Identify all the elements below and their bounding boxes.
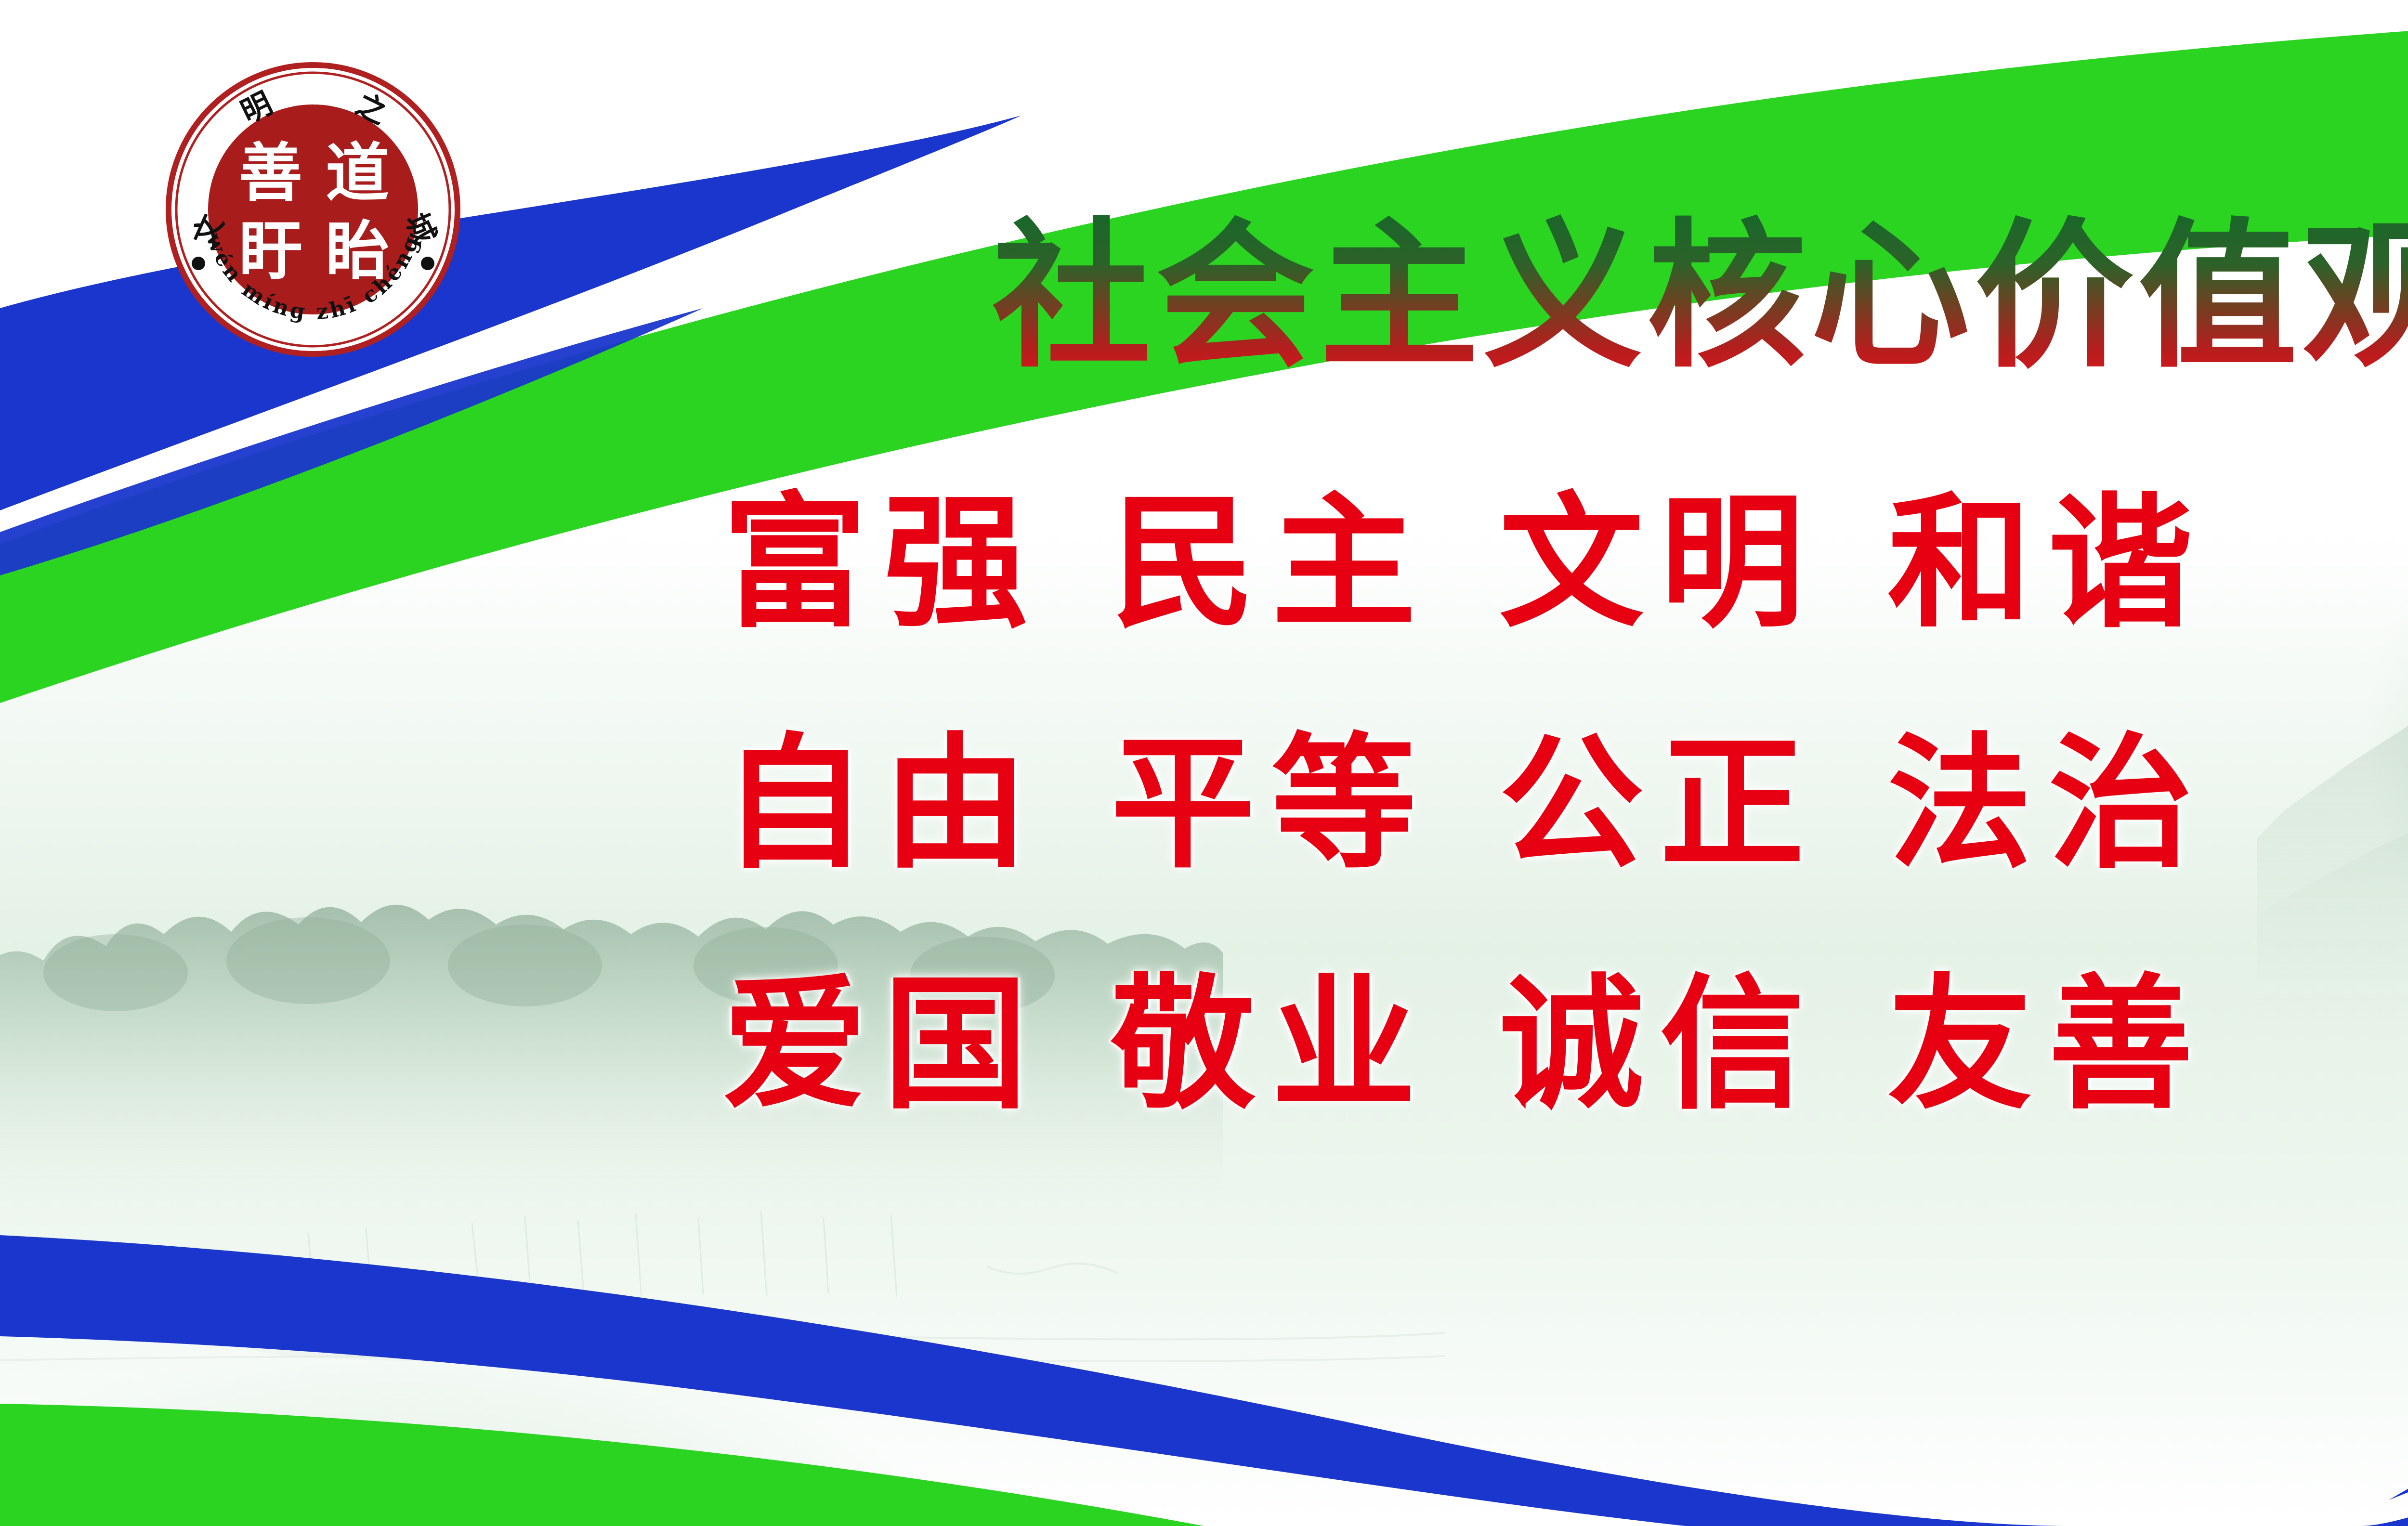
slogan-line-3: 爱国 敬业 诚信 友善: [722, 973, 2408, 1117]
seal-inner-char-xu: 盱: [239, 214, 302, 288]
bottom-left-blue-ribbon: [0, 1235, 2071, 1526]
headline-svg: 社会主义核心价值观: [790, 188, 2408, 390]
seal-inner-char-yi: 眙: [326, 214, 389, 288]
core-values-slogans: 富强 民主 文明 和谐 自由 平等 公正 法治 爱国 敬业 诚信 友善: [722, 491, 2408, 1213]
slogan-line-1: 富强 民主 文明 和谐: [722, 491, 2408, 636]
seal-dot-left: [192, 257, 205, 270]
headline-text: 社会主义核心价值观: [992, 204, 2408, 389]
bottom-right-blue-thin-taper: [2389, 1189, 2408, 1500]
propaganda-board: 文 明 之 城 wén míng zhī chéng 善 道 盱 眙: [0, 0, 2408, 1526]
slogan-line-2: 自由 平等 公正 法治: [722, 732, 2408, 876]
avatar: 文 明 之 城 wén míng zhī chéng 善 道 盱 眙: [159, 55, 467, 364]
seal-inner-char-shan: 善: [239, 136, 302, 210]
bottom-left-green-ribbon: [0, 1404, 1204, 1526]
seal-inner-char-dao: 道: [326, 136, 389, 210]
misty-water-surface: [0, 1194, 1445, 1396]
wenming-zhicheng-seal: 文 明 之 城 wén míng zhī chéng 善 道 盱 眙: [159, 55, 467, 364]
seal-dot-right: [421, 257, 434, 270]
bottom-right-blue-ribbon-outer: [2360, 1204, 2408, 1526]
page-title: 社会主义核心价值观: [790, 188, 2408, 390]
